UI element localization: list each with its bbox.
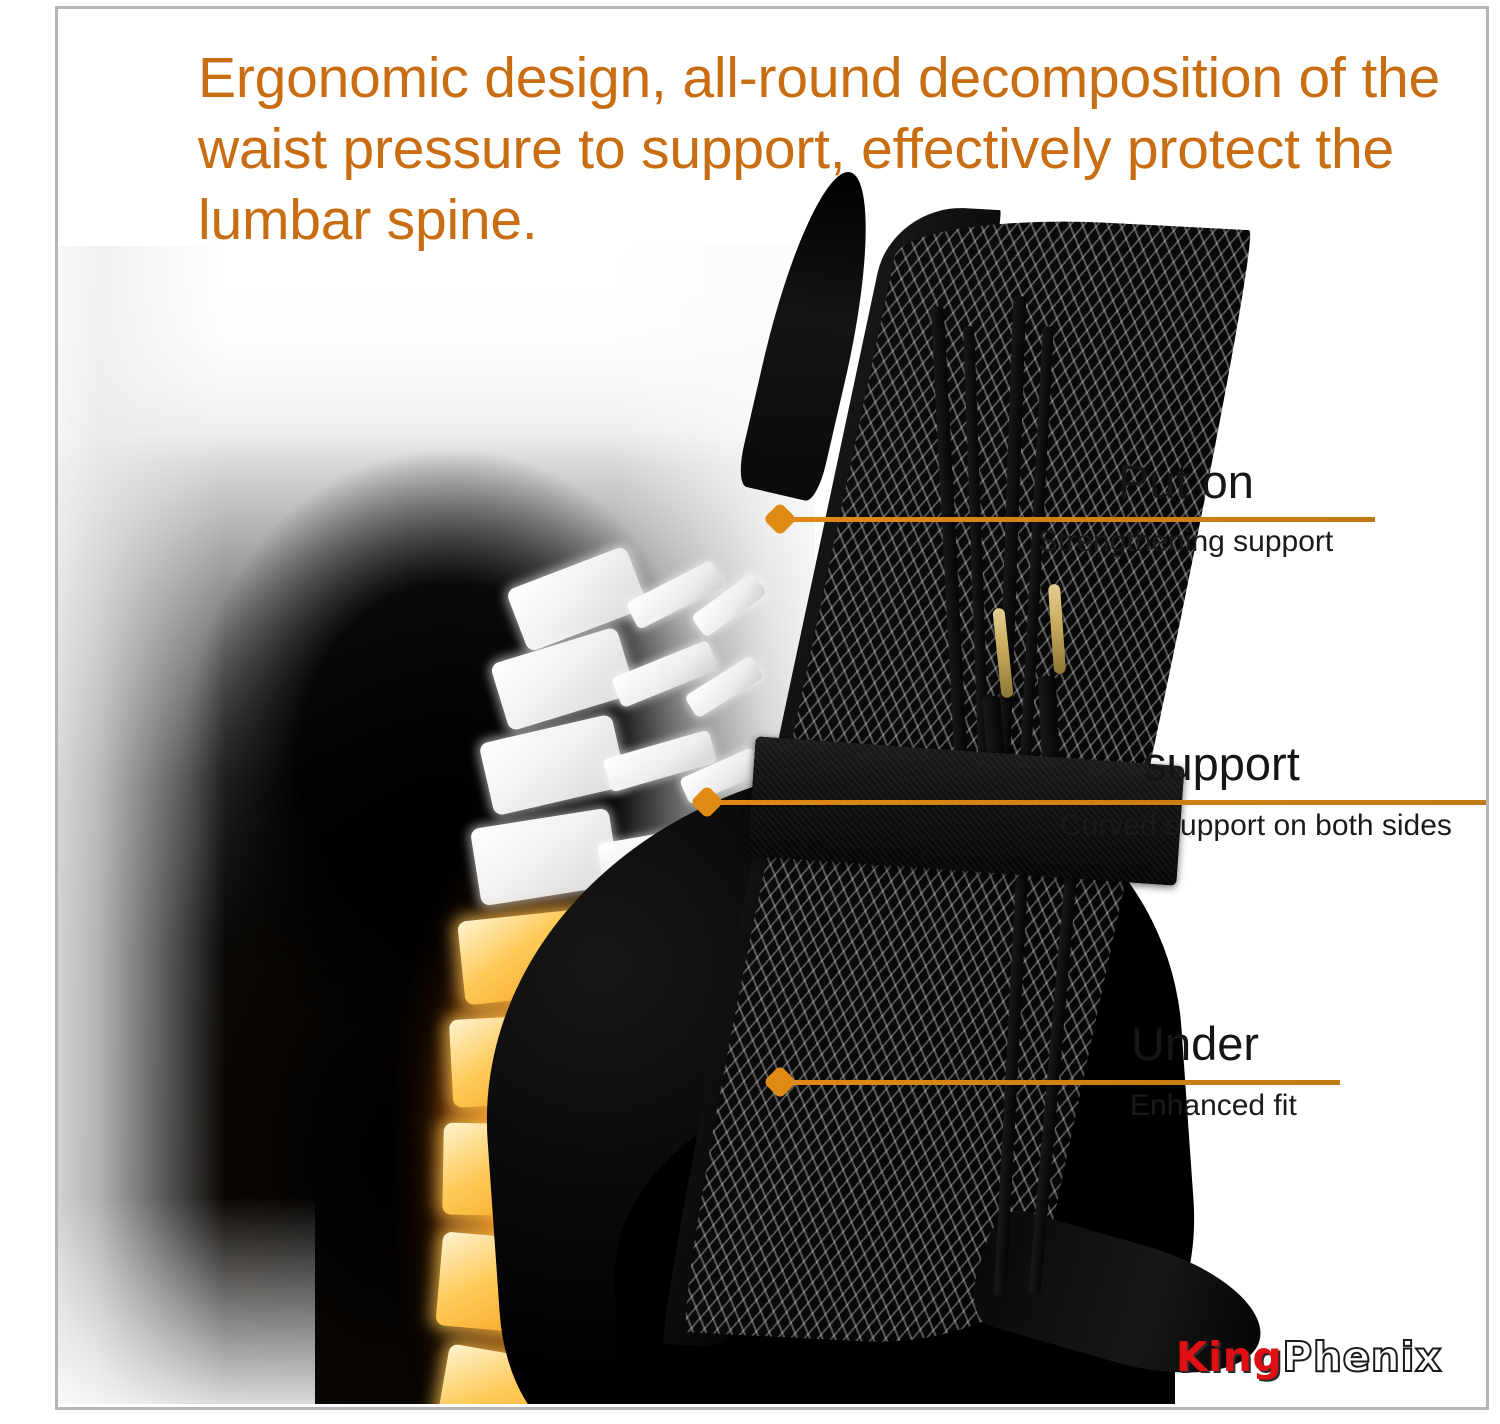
callout-subtitle-1: Strengthening support bbox=[1038, 525, 1333, 559]
brand-name-part1: King bbox=[1176, 1333, 1282, 1381]
product-infographic: Ergonomic design, all-round decompositio… bbox=[0, 0, 1500, 1424]
page-title: Ergonomic design, all-round decompositio… bbox=[198, 43, 1488, 256]
xray-bottom-fade bbox=[55, 1197, 315, 1404]
callout-line-2 bbox=[707, 800, 1489, 805]
callout-subtitle-2: Curved support on both sides bbox=[1060, 809, 1452, 843]
callout-title-1: Put on bbox=[1118, 457, 1254, 507]
callout-subtitle-3: Enhanced fit bbox=[1130, 1089, 1297, 1123]
callout-title-3: Under bbox=[1131, 1019, 1259, 1069]
callout-line-3 bbox=[780, 1080, 1340, 1085]
callout-title-2: support bbox=[1143, 739, 1300, 789]
callout-line-1 bbox=[780, 517, 1375, 522]
brand-logo: KingPhenix bbox=[1176, 1333, 1442, 1381]
brand-name-part2: Phenix bbox=[1282, 1333, 1442, 1381]
image-frame: Ergonomic design, all-round decompositio… bbox=[55, 6, 1489, 1410]
